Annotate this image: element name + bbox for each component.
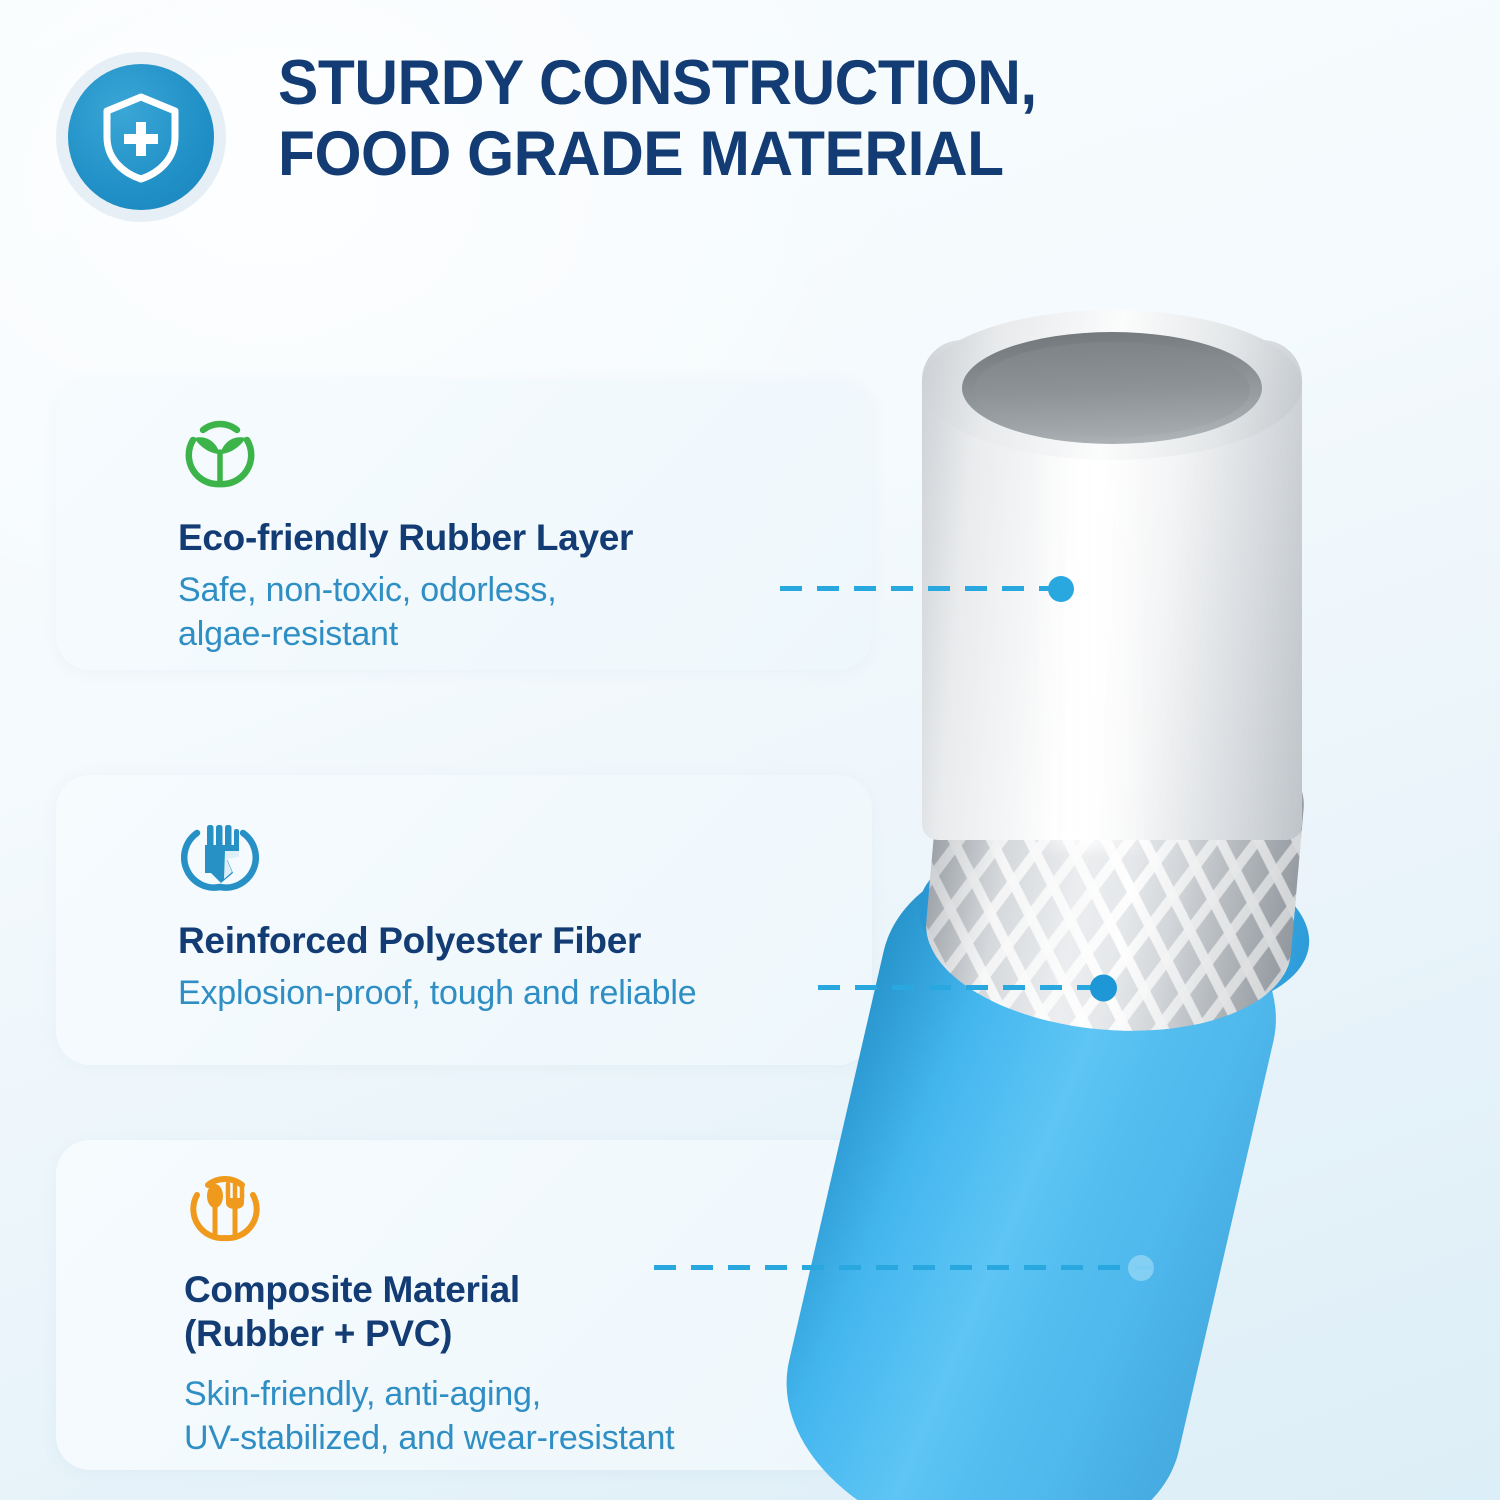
feature-subtitle-line2: algae-resistant xyxy=(178,612,556,656)
feature-subtitle: Skin-friendly, anti-aging, UV-stabilized… xyxy=(184,1372,674,1460)
page-title-line2: FOOD GRADE MATERIAL xyxy=(278,119,1382,190)
feature-subtitle: Explosion-proof, tough and reliable xyxy=(178,971,696,1015)
badge-circle xyxy=(68,64,214,210)
connector-endpoint-dot xyxy=(1048,576,1074,602)
feature-subtitle-line2: UV-stabilized, and wear-resistant xyxy=(184,1416,674,1460)
connector-rubber-layer xyxy=(780,586,1070,591)
tube-highlight xyxy=(1030,450,1150,850)
garden-hose-cutaway-image xyxy=(880,300,1500,1500)
connector-composite-material xyxy=(654,1265,1154,1270)
connector-dashed-line xyxy=(780,586,1070,591)
connector-dashed-line xyxy=(818,985,1113,990)
feature-card-eco-friendly[interactable]: Eco-friendly Rubber Layer Safe, non-toxi… xyxy=(56,380,872,670)
feature-title-line2: (Rubber + PVC) xyxy=(184,1312,520,1356)
page-title: STURDY CONSTRUCTION, FOOD GRADE MATERIAL xyxy=(278,48,1382,189)
feature-title: Eco-friendly Rubber Layer xyxy=(178,516,633,560)
feature-card-reinforced-fiber[interactable]: Reinforced Polyester Fiber Explosion-pro… xyxy=(56,775,872,1065)
connector-endpoint-dot xyxy=(1128,1255,1154,1281)
header: STURDY CONSTRUCTION, FOOD GRADE MATERIAL xyxy=(56,40,1436,230)
page-title-line1: STURDY CONSTRUCTION, xyxy=(278,48,1382,119)
raised-fist-icon xyxy=(181,817,259,895)
feature-title-line1: Composite Material xyxy=(184,1268,520,1312)
feature-title: Reinforced Polyester Fiber xyxy=(178,919,641,963)
shield-plus-icon xyxy=(95,89,187,185)
feature-subtitle: Safe, non-toxic, odorless, algae-resista… xyxy=(178,568,556,656)
infographic-page: STURDY CONSTRUCTION, FOOD GRADE MATERIAL… xyxy=(0,0,1500,1500)
feature-title: Composite Material (Rubber + PVC) xyxy=(184,1268,520,1357)
feature-subtitle-line1: Explosion-proof, tough and reliable xyxy=(178,971,696,1015)
shield-badge xyxy=(56,52,226,222)
eco-sprout-icon xyxy=(181,414,259,492)
spoon-fork-food-safe-icon xyxy=(186,1170,264,1248)
tube-bore-inner xyxy=(974,342,1250,437)
connector-polyester-fiber xyxy=(818,985,1113,990)
feature-card-composite-material[interactable]: Composite Material (Rubber + PVC) Skin-f… xyxy=(56,1140,872,1470)
feature-subtitle-line1: Skin-friendly, anti-aging, xyxy=(184,1372,674,1416)
connector-dashed-line xyxy=(654,1265,1154,1270)
feature-subtitle-line1: Safe, non-toxic, odorless, xyxy=(178,568,556,612)
connector-endpoint-dot xyxy=(1090,974,1117,1001)
